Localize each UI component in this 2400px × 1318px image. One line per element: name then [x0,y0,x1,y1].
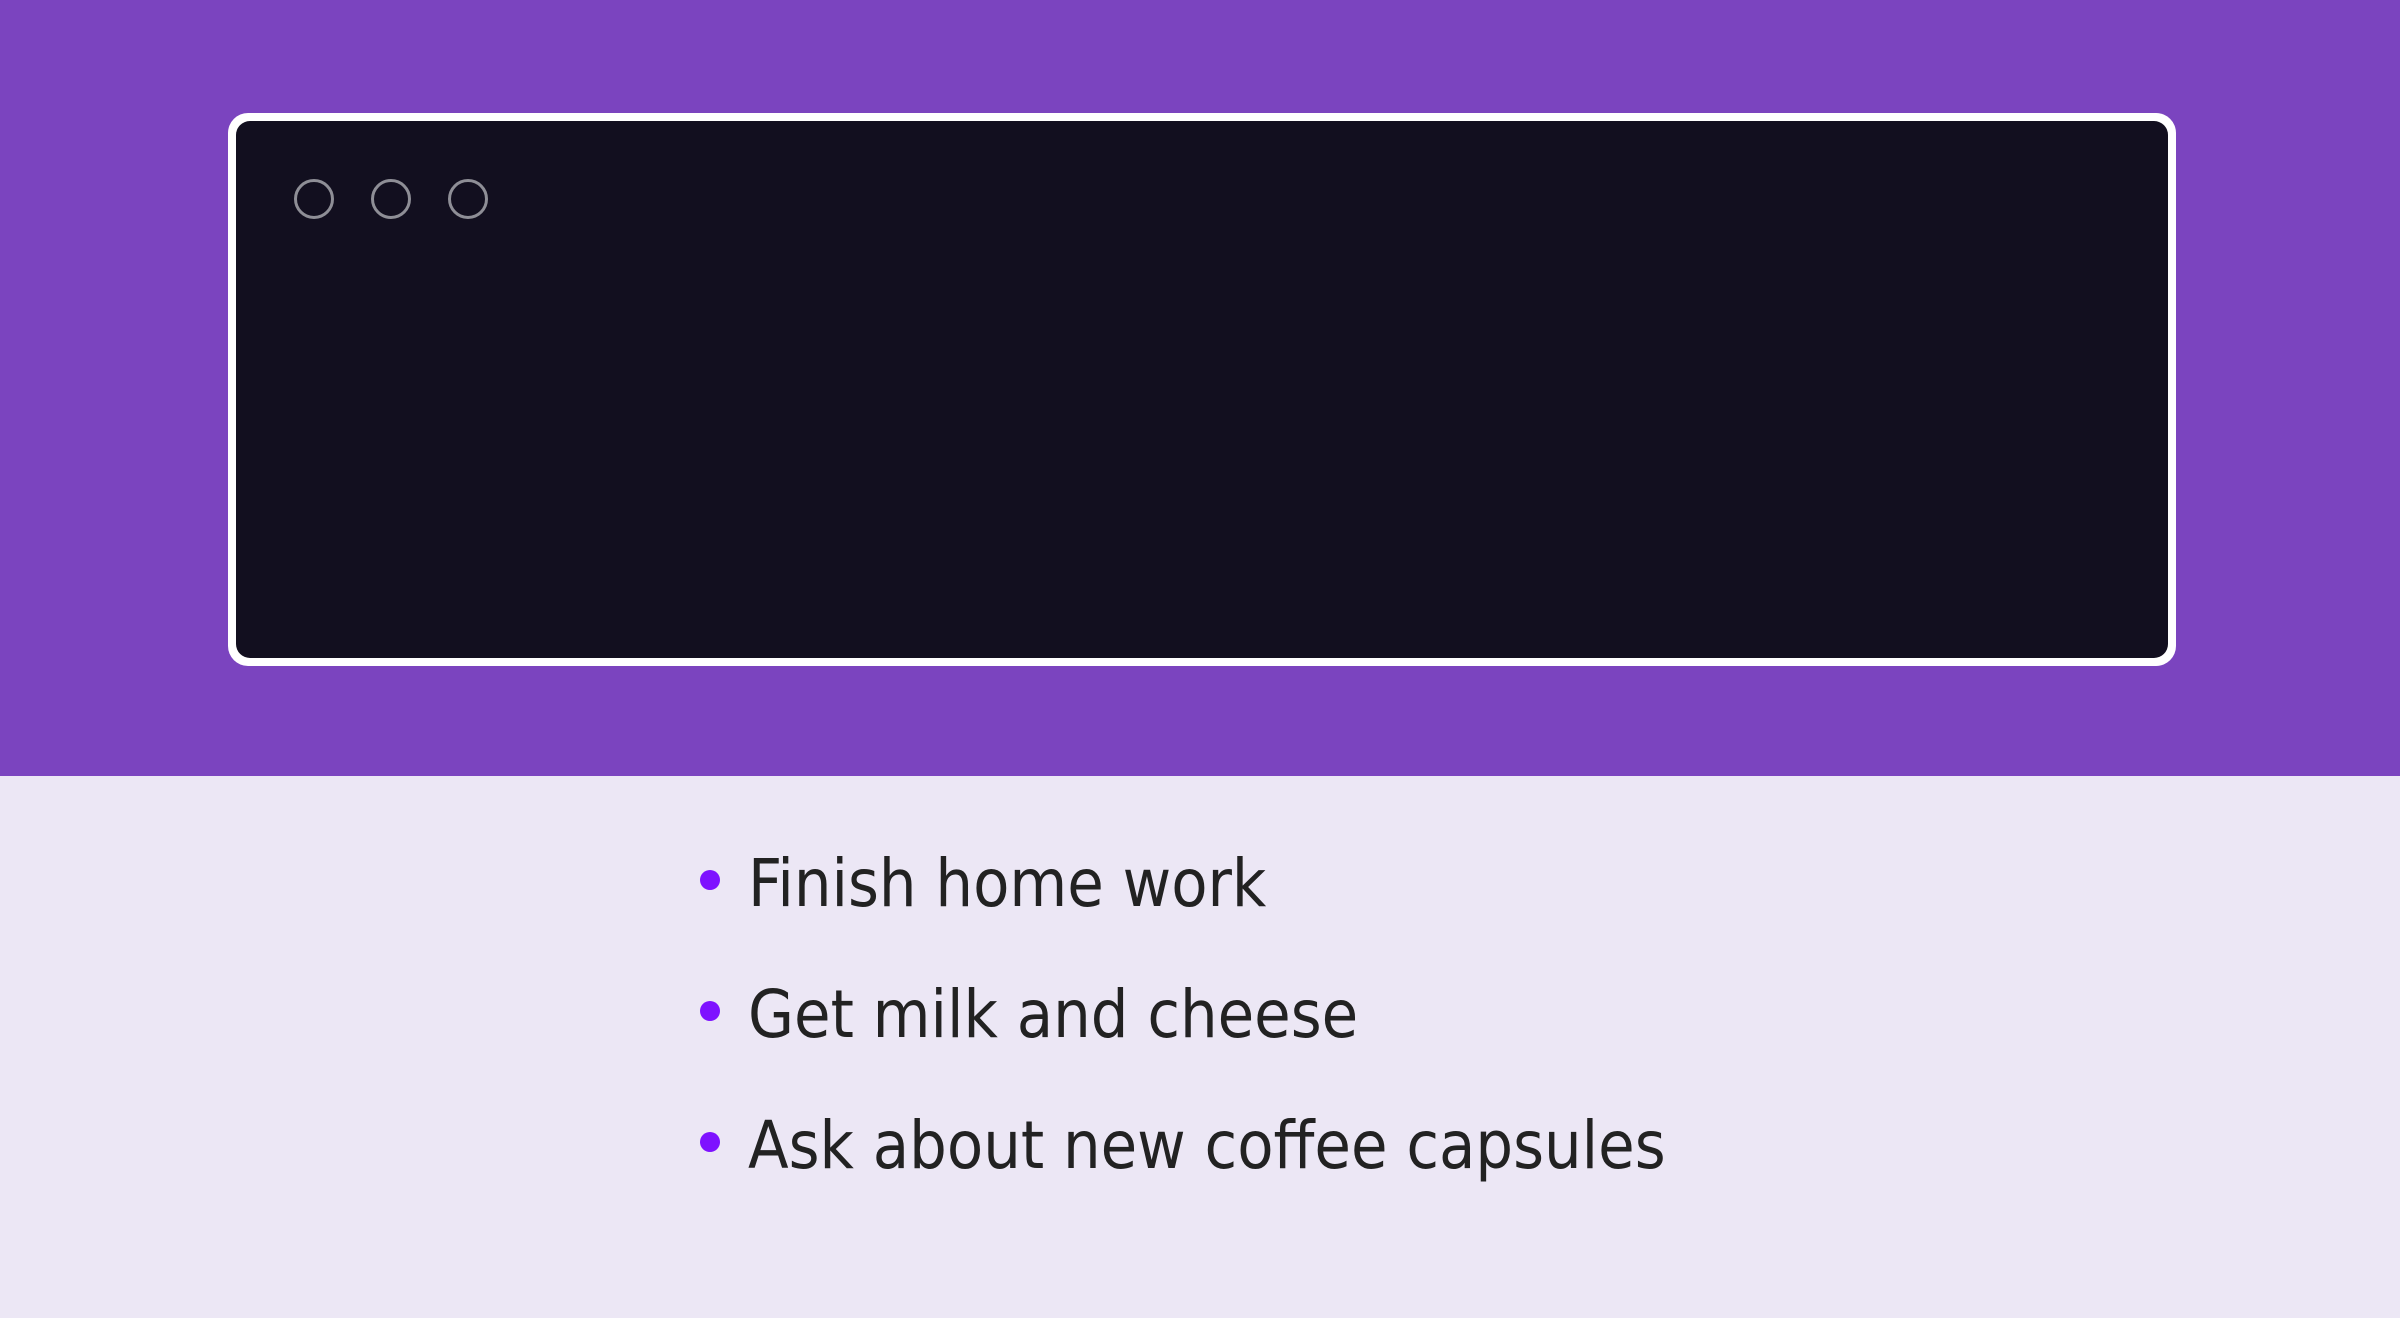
hero-section: li { color: #222; } li::marker { color: … [0,0,2400,776]
list-section: Finish home work Get milk and cheese Ask… [0,776,2400,1318]
list-item: Get milk and cheese [700,982,1666,1113]
code-window: li { color: #222; } li::marker { color: … [228,113,2176,666]
list-marker-bullet-icon [700,1132,720,1152]
minimize-icon[interactable] [371,179,411,219]
list-item-label: Get milk and cheese [748,982,1358,1048]
list-item-label: Ask about new coffee capsules [748,1113,1666,1179]
code-block[interactable]: li { color: #222; } li::marker { color: … [308,299,2128,658]
window-controls [294,179,488,219]
list-item: Ask about new coffee capsules [700,1113,1666,1244]
list-marker-bullet-icon [700,1001,720,1021]
code-line-1: li { color: #222; } [308,625,2128,658]
list-marker-bullet-icon [700,870,720,890]
list-item-label: Finish home work [748,851,1266,917]
code-window-body: li { color: #222; } li::marker { color: … [236,121,2168,658]
list-item: Finish home work [700,851,1666,982]
todo-list: Finish home work Get milk and cheese Ask… [700,851,1666,1244]
close-icon[interactable] [294,179,334,219]
maximize-icon[interactable] [448,179,488,219]
